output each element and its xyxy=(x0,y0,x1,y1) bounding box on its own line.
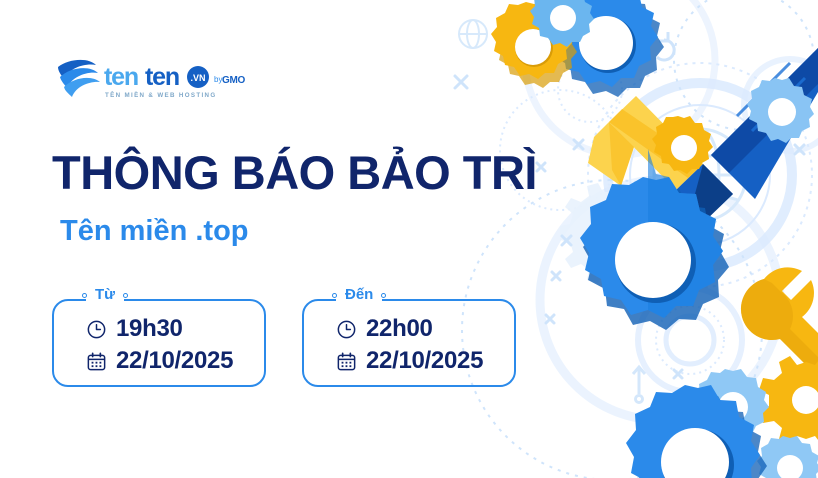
page-subtitle: Tên miền .top xyxy=(60,216,249,248)
svg-text:ten: ten xyxy=(104,63,138,91)
gear-pale-topleft xyxy=(530,0,594,47)
maintenance-start-card: Từ 19h30 xyxy=(52,299,266,387)
gear-blue-upper xyxy=(548,0,664,97)
svg-text:GMO: GMO xyxy=(222,75,246,86)
gear-blue-large xyxy=(580,149,729,330)
maintenance-notice-banner: ten ten .VN by GMO TÊN MIỀN & WEB HOSTIN… xyxy=(0,0,818,478)
start-time-row: 19h30 xyxy=(86,313,233,345)
card-label-to: Đến xyxy=(336,287,382,305)
start-time-value: 19h30 xyxy=(116,315,183,343)
end-date-row: 22/10/2025 xyxy=(336,345,483,377)
tenten-logo[interactable]: ten ten .VN by GMO TÊN MIỀN & WEB HOSTIN… xyxy=(56,57,256,103)
gear-yellow-mid xyxy=(652,116,713,174)
clock-icon xyxy=(86,319,107,340)
svg-text:.VN: .VN xyxy=(190,73,205,83)
maintenance-end-card: Đến 22h00 xyxy=(302,299,516,387)
logo-swoosh-icon xyxy=(58,60,100,97)
svg-text:TÊN MIỀN & WEB HOSTING: TÊN MIỀN & WEB HOSTING xyxy=(105,91,217,99)
card-rows: 19h30 22/10/2025 xyxy=(86,313,233,377)
calendar-icon xyxy=(86,351,107,372)
wrench-icon xyxy=(741,267,818,397)
gear-yellow-top xyxy=(491,2,577,88)
calendar-icon xyxy=(336,351,357,372)
gear-pale-bottomright xyxy=(757,436,818,478)
card-rows: 22h00 22/10/2025 xyxy=(336,313,483,377)
gear-yellow-right xyxy=(759,356,818,445)
end-time-row: 22h00 xyxy=(336,313,483,345)
gear-blue-bottom xyxy=(626,385,767,478)
clock-icon xyxy=(336,319,357,340)
gear-pale-topright xyxy=(747,78,814,143)
screwdriver-icon xyxy=(588,48,818,220)
start-date-value: 22/10/2025 xyxy=(116,347,233,375)
end-time-value: 22h00 xyxy=(366,315,433,343)
card-label-from: Từ xyxy=(86,287,124,305)
end-date-value: 22/10/2025 xyxy=(366,347,483,375)
gear-pale-bottom xyxy=(694,369,769,440)
page-title: THÔNG BÁO BẢO TRÌ xyxy=(52,148,537,197)
start-date-row: 22/10/2025 xyxy=(86,345,233,377)
gear-yellow-edge xyxy=(777,18,818,93)
svg-text:ten: ten xyxy=(145,63,179,91)
